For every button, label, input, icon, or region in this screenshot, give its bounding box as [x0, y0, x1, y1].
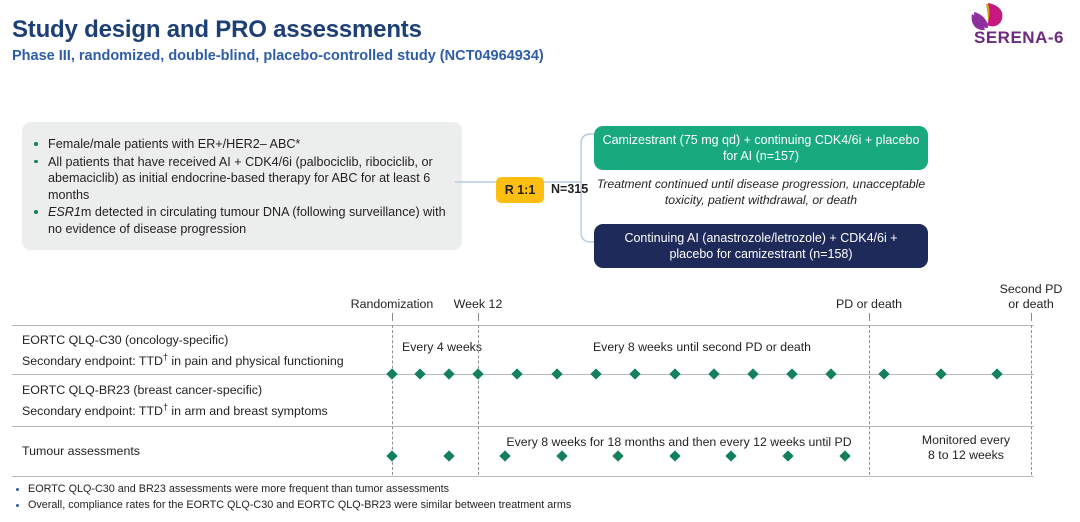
annotation-every-8-weeks-until-second-pd: Every 8 weeks until second PD or death — [512, 340, 892, 355]
population-bullet-text: All patients that have received AI + CDK… — [48, 155, 433, 202]
row-label-line2: Secondary endpoint: TTD† in pain and phy… — [22, 349, 344, 370]
population-bullet: ESR1m detected in circulating tumour DNA… — [48, 204, 450, 237]
gene-name-esr1: ESR1 — [48, 205, 81, 219]
treatment-duration-note: Treatment continued until disease progre… — [594, 176, 928, 208]
population-bullet: All patients that have received AI + CDK… — [48, 154, 450, 204]
randomization-ratio-badge: R 1:1 — [496, 177, 544, 203]
total-n-label: N=315 — [551, 182, 588, 196]
table-row: Tumour assessments Every 8 weeks for 18 … — [12, 427, 1034, 475]
milestone-label-second-pd-or-death: Second PD or death — [976, 282, 1080, 311]
row-label-eortc-qlq-c30: EORTC QLQ-C30 (oncology-specific) Second… — [22, 332, 344, 369]
annotation-every-8-weeks-18-months: Every 8 weeks for 18 months and then eve… — [484, 435, 874, 450]
footnote-item: Overall, compliance rates for the EORTC … — [14, 498, 571, 513]
milestone-label-pd-or-death: PD or death — [809, 297, 929, 312]
assessment-schedule-table: EORTC QLQ-C30 (oncology-specific) Second… — [12, 325, 1034, 477]
population-bullet-text: m detected in circulating tumour DNA (fo… — [48, 205, 446, 236]
population-bullet-text: Female/male patients with ER+/HER2– ABC* — [48, 137, 300, 151]
milestone-tick-second-pd-or-death — [1031, 313, 1032, 321]
row-label-line1: EORTC QLQ-C30 (oncology-specific) — [22, 332, 344, 349]
annotation-every-4-weeks: Every 4 weeks — [392, 340, 492, 355]
control-arm-box: Continuing AI (anastrozole/letrozole) + … — [594, 224, 928, 268]
table-row: EORTC QLQ-BR23 (breast cancer-specific) … — [12, 375, 1034, 427]
experimental-arm-box: Camizestrant (75 mg qd) + continuing CDK… — [594, 126, 928, 170]
footnotes: EORTC QLQ-C30 and BR23 assessments were … — [14, 482, 571, 514]
row-label-tumour-assessments: Tumour assessments — [22, 443, 140, 460]
population-bullet: Female/male patients with ER+/HER2– ABC* — [48, 136, 450, 153]
annotation-monitored-every: Monitored every 8 to 12 weeks — [896, 433, 1036, 463]
table-row: EORTC QLQ-C30 (oncology-specific) Second… — [12, 326, 1034, 375]
milestone-tick-pd-or-death — [869, 313, 870, 321]
milestone-tick-week-12 — [478, 313, 479, 321]
row-label-line1: EORTC QLQ-BR23 (breast cancer-specific) — [22, 382, 328, 399]
page-subtitle: Phase III, randomized, double-blind, pla… — [12, 48, 544, 64]
milestone-label-week-12: Week 12 — [428, 297, 528, 312]
milestone-line-week-12 — [478, 325, 479, 475]
page-title: Study design and PRO assessments — [12, 16, 422, 44]
row-label-line1: Tumour assessments — [22, 443, 140, 460]
milestone-line-pd-or-death — [869, 325, 870, 475]
serena-6-logo: SERENA-6 — [952, 2, 1072, 50]
row-label-line2: Secondary endpoint: TTD† in arm and brea… — [22, 399, 328, 420]
population-criteria-box: Female/male patients with ER+/HER2– ABC*… — [22, 122, 462, 250]
milestone-line-second-pd-or-death — [1031, 325, 1032, 475]
milestone-tick-randomization — [392, 313, 393, 321]
logo-wordmark: SERENA-6 — [974, 28, 1064, 48]
row-label-eortc-qlq-br23: EORTC QLQ-BR23 (breast cancer-specific) … — [22, 382, 328, 419]
footnote-item: EORTC QLQ-C30 and BR23 assessments were … — [14, 482, 571, 497]
